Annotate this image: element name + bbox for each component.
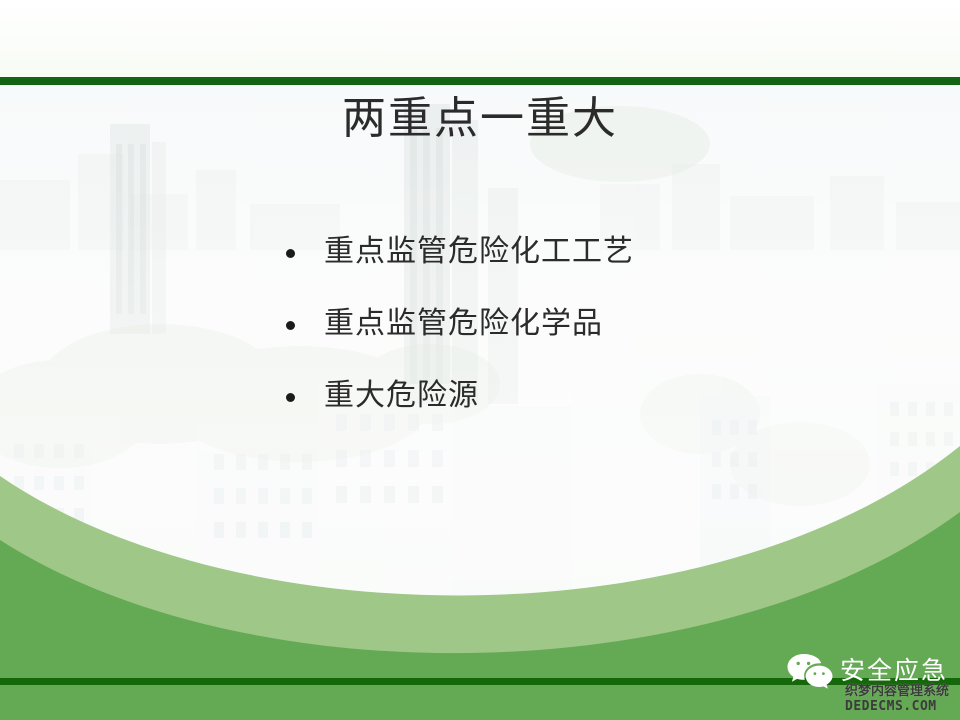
list-item-label: 重大危险源 — [324, 376, 479, 416]
list-item: 重大危险源 — [286, 376, 886, 416]
header-divider-rule — [0, 77, 960, 85]
bullet-list: 重点监管危险化工工艺 重点监管危险化学品 重大危险源 — [286, 232, 886, 448]
list-item: 重点监管危险化工工艺 — [286, 232, 886, 272]
watermark-en-text: DEDECMS.COM — [845, 699, 960, 714]
bullet-dot-icon — [286, 249, 295, 258]
list-item-label: 重点监管危险化工工艺 — [324, 232, 634, 272]
header-band — [0, 0, 960, 77]
wechat-account-label: 安全应急 — [840, 656, 948, 686]
watermark-cn-text: 织梦内容管理系统 — [845, 684, 960, 699]
list-item: 重点监管危险化学品 — [286, 304, 886, 344]
bullet-dot-icon — [286, 321, 295, 330]
wechat-icon — [786, 652, 834, 690]
slide-canvas: 两重点一重大 重点监管危险化工工艺 重点监管危险化学品 重大危险源 安全应急 — [0, 0, 960, 720]
list-item-label: 重点监管危险化学品 — [324, 304, 603, 344]
dedecms-watermark: 织梦内容管理系统 DEDECMS.COM — [845, 684, 960, 714]
page-title: 两重点一重大 — [0, 94, 960, 145]
bullet-dot-icon — [286, 393, 295, 402]
